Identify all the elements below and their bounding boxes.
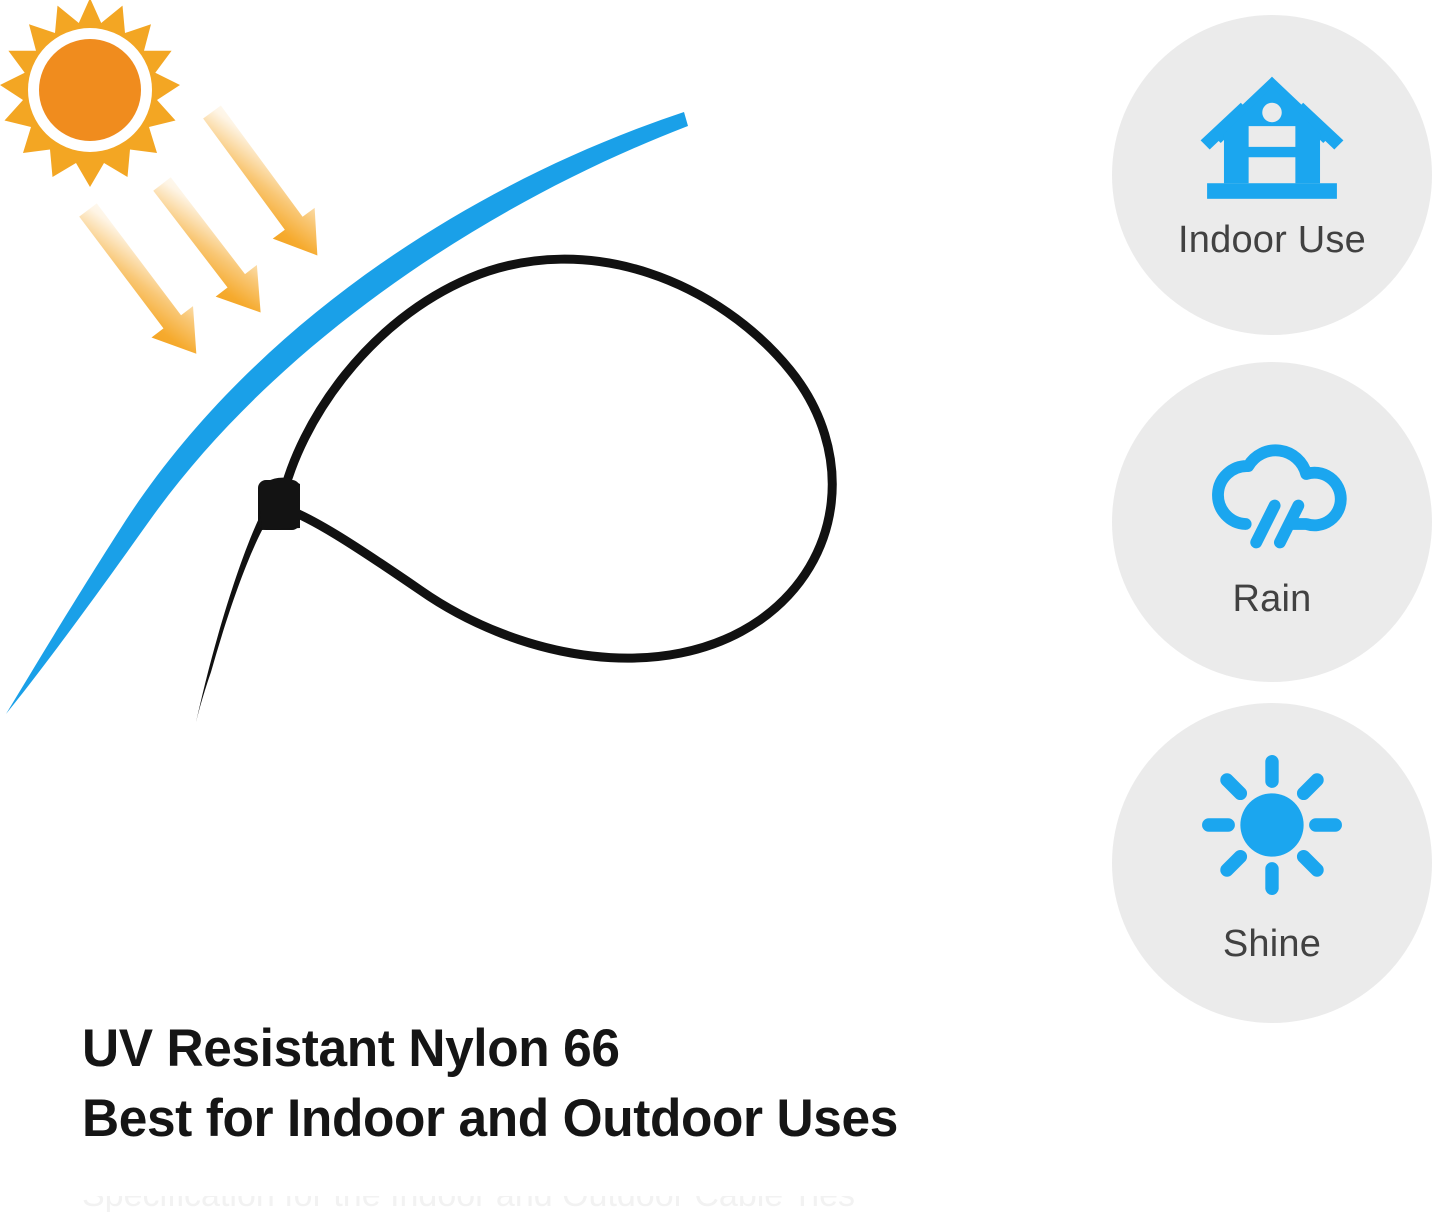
protective-arc	[6, 112, 688, 714]
sun-burst-icon	[0, 0, 180, 187]
feature-label-indoor-use: Indoor Use	[1178, 221, 1366, 259]
sun-shine-icon	[1192, 755, 1352, 895]
cable-tie-head-bevel	[258, 478, 300, 530]
uv-resistance-illustration	[0, 0, 1060, 980]
headline: UV Resistant Nylon 66 Best for Indoor an…	[82, 1014, 1082, 1154]
feature-badge-shine[interactable]: Shine	[1112, 703, 1432, 1023]
cable-tie-loop	[282, 259, 832, 658]
feature-label-shine: Shine	[1223, 925, 1321, 963]
rain-cloud-icon	[1192, 414, 1352, 554]
cutoff-text: Specification for the Indoor and Outdoor…	[82, 1196, 1082, 1212]
headline-line-1: UV Resistant Nylon 66	[82, 1014, 1052, 1084]
feature-badge-indoor-use[interactable]: Indoor Use	[1112, 15, 1432, 335]
feature-badge-rain[interactable]: Rain	[1112, 362, 1432, 682]
house-icon	[1192, 61, 1352, 211]
cutoff-text-strip: Specification for the Indoor and Outdoor…	[82, 1196, 1082, 1212]
headline-line-2: Best for Indoor and Outdoor Uses	[82, 1084, 1052, 1154]
cable-tie-tail	[196, 512, 270, 722]
product-feature-infographic: Indoor Use Rain	[0, 0, 1432, 1212]
cable-tie	[196, 259, 832, 722]
feature-label-rain: Rain	[1233, 580, 1312, 618]
